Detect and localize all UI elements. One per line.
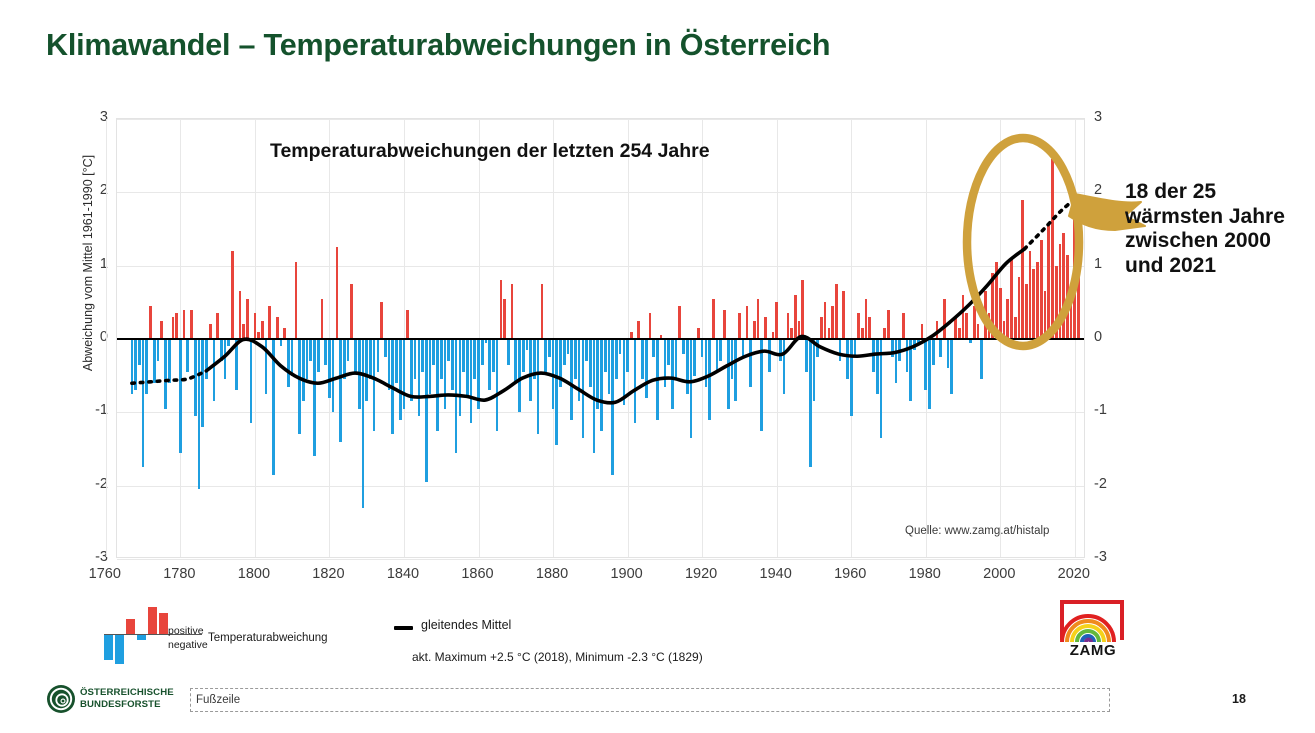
y-tick-label-left: -1 — [78, 402, 108, 418]
y-tick-label-right: -2 — [1094, 476, 1124, 492]
y-tick-label-left: 1 — [78, 256, 108, 272]
legend-positive-label: positive — [168, 625, 204, 637]
bundesforste-line1: ÖSTERREICHISCHE — [80, 687, 174, 699]
page-title: Klimawandel – Temperaturabweichungen in … — [46, 28, 830, 63]
y-tick-label-left: -3 — [78, 549, 108, 565]
x-tick-label: 1900 — [597, 566, 657, 582]
x-tick-label: 1960 — [820, 566, 880, 582]
bundesforste-logo: ÖSTERREICHISCHE BUNDESFORSTE — [46, 684, 196, 714]
y-tick-label-left: -2 — [78, 476, 108, 492]
gridline-horizontal — [117, 559, 1084, 560]
x-tick-label: 1920 — [671, 566, 731, 582]
zamg-logo: ZAMG — [1056, 600, 1130, 666]
legend-extremes-note: akt. Maximum +2.5 °C (2018), Minimum -2.… — [412, 650, 703, 664]
y-tick-label-right: 0 — [1094, 329, 1124, 345]
x-tick-label: 1780 — [149, 566, 209, 582]
x-tick-label: 1980 — [895, 566, 955, 582]
x-tick-label: 1800 — [224, 566, 284, 582]
y-tick-label-right: -3 — [1094, 549, 1124, 565]
legend-line-swatch — [394, 626, 413, 630]
legend-negative-label: negative — [168, 639, 208, 651]
bundesforste-line2: BUNDESFORSTE — [80, 699, 174, 711]
x-tick-label: 2000 — [969, 566, 1029, 582]
concentric-circles-icon — [46, 684, 76, 714]
callout-annotation-text: 18 der 25 wärmsten Jahre zwischen 2000 u… — [1125, 180, 1310, 278]
source-note: Quelle: www.zamg.at/histalp — [905, 525, 1049, 537]
y-tick-label-right: -1 — [1094, 402, 1124, 418]
y-tick-label-right: 2 — [1094, 182, 1124, 198]
x-tick-label: 1760 — [75, 566, 135, 582]
legend-line-series-label: gleitendes Mittel — [421, 618, 511, 632]
footer-placeholder-label: Fußzeile — [196, 694, 240, 706]
smoothed-mean-line — [117, 119, 1084, 557]
x-tick-label: 1940 — [746, 566, 806, 582]
x-tick-label: 2020 — [1044, 566, 1104, 582]
y-tick-label-left: 3 — [78, 109, 108, 125]
chart-heading: Temperaturabweichungen der letzten 254 J… — [270, 140, 710, 163]
x-tick-label: 1820 — [298, 566, 358, 582]
y-tick-label-left: 0 — [78, 329, 108, 345]
footer-text-placeholder[interactable]: Fußzeile — [190, 688, 1110, 712]
bundesforste-wordmark: ÖSTERREICHISCHE BUNDESFORSTE — [80, 687, 174, 710]
x-tick-label: 1880 — [522, 566, 582, 582]
y-tick-label-right: 3 — [1094, 109, 1124, 125]
plot-area — [116, 118, 1085, 558]
y-tick-label-left: 2 — [78, 182, 108, 198]
page-number: 18 — [1232, 692, 1246, 706]
x-tick-label: 1840 — [373, 566, 433, 582]
legend-bars-series-label: Temperaturabweichung — [208, 632, 328, 644]
x-tick-label: 1860 — [448, 566, 508, 582]
temperature-anomaly-chart: Abweichung vom Mittel 1961-1990 [°C] 321… — [0, 100, 1140, 590]
gridline-vertical — [106, 119, 107, 557]
zamg-wordmark: ZAMG — [1060, 642, 1126, 659]
rainbow-icon — [1060, 604, 1120, 642]
y-tick-label-right: 1 — [1094, 256, 1124, 272]
